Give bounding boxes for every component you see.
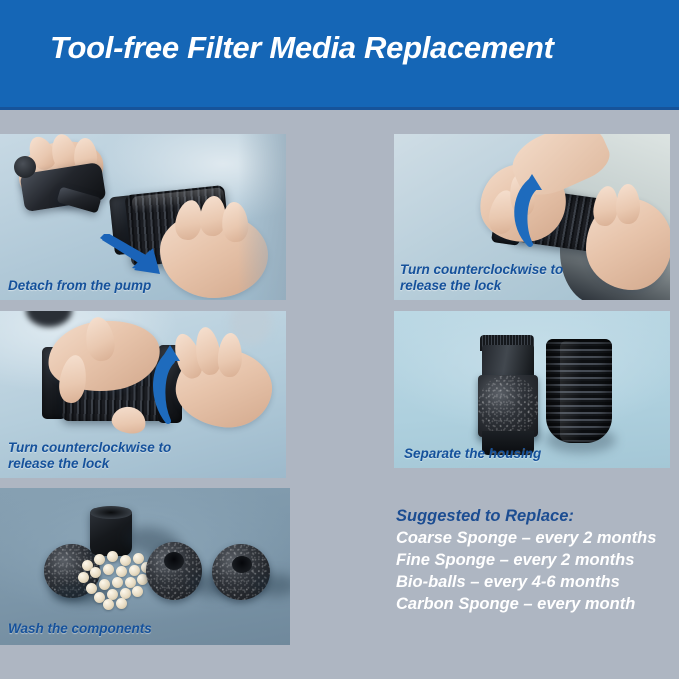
step-panel-5: Wash the components <box>0 488 290 645</box>
fine-sponge-hole <box>232 556 252 573</box>
replacement-item-carbon-sponge: Carbon Sponge – every month <box>396 594 676 616</box>
panel-4-caption: Separate the housing <box>404 446 541 462</box>
background-blur <box>26 311 72 327</box>
bio-ball-icon <box>103 599 114 610</box>
bio-ball-icon <box>116 566 127 577</box>
rotation-arrow-icon <box>148 343 190 429</box>
page-title: Tool-free Filter Media Replacement <box>50 30 554 66</box>
bio-ball-icon <box>112 577 123 588</box>
housing-inner-shadow <box>560 341 582 441</box>
background-figure <box>238 134 286 300</box>
panel-1-photo <box>0 134 286 300</box>
bio-ball-icon <box>78 572 89 583</box>
finger-icon <box>616 184 640 224</box>
panel-3-caption: Turn counterclockwise to release the loc… <box>8 440 171 472</box>
bio-ball-icon <box>99 579 110 590</box>
bio-ball-icon <box>107 551 118 562</box>
replacement-item-coarse-sponge: Coarse Sponge – every 2 months <box>396 528 676 550</box>
bio-ball-icon <box>90 567 101 578</box>
direction-arrow-icon <box>98 234 168 278</box>
bio-ball-icon <box>116 598 127 609</box>
step-panel-1: Detach from the pump <box>0 134 286 300</box>
pump-ring-icon <box>14 156 36 178</box>
step-panel-3: Turn counterclockwise to release the loc… <box>0 311 286 478</box>
replacement-item-fine-sponge: Fine Sponge – every 2 months <box>396 550 676 572</box>
rotation-arrow-icon <box>508 172 556 252</box>
header-banner: Tool-free Filter Media Replacement <box>0 0 679 110</box>
infographic-root: Tool-free Filter Media Replacement <box>0 0 679 679</box>
panel-5-caption: Wash the components <box>8 621 152 637</box>
replacement-schedule: Suggested to Replace: Coarse Sponge – ev… <box>396 505 676 616</box>
panel-1-caption: Detach from the pump <box>8 278 151 294</box>
filter-core-collar-icon <box>482 345 534 379</box>
panel-2-caption: Turn counterclockwise to release the loc… <box>400 262 563 294</box>
step-panel-4: Separate the housing <box>394 311 670 468</box>
bio-ball-icon <box>120 555 131 566</box>
step-panel-2: Turn counterclockwise to release the loc… <box>394 134 670 300</box>
replacement-item-bio-balls: Bio-balls – every 4-6 months <box>396 572 676 594</box>
bio-ball-icon <box>132 586 143 597</box>
sponge-shadow <box>252 574 290 596</box>
replacement-heading: Suggested to Replace: <box>396 505 676 527</box>
bio-ball-icon <box>103 564 114 575</box>
carbon-container-rim-icon <box>90 506 132 519</box>
coarse-sponge-icon <box>478 375 538 437</box>
carbon-sponge-hole <box>164 552 184 570</box>
bio-ball-icon <box>94 554 105 565</box>
panel-4-photo <box>394 311 670 468</box>
